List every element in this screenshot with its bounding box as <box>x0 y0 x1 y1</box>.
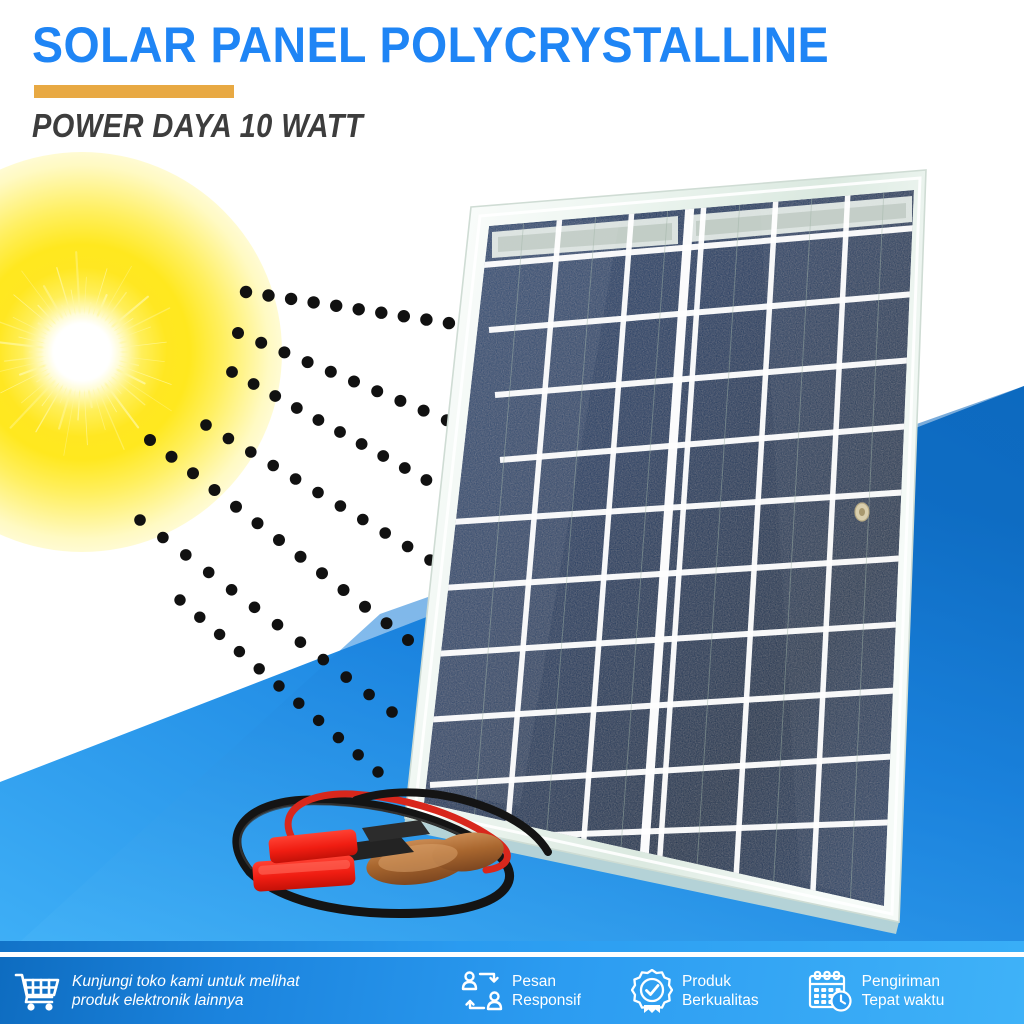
store-promo-text: Kunjungi toko kami untuk melihat produk … <box>72 972 299 1010</box>
store-promo-line1: Kunjungi toko kami untuk melihat <box>72 972 299 991</box>
shopping-cart-icon <box>14 970 60 1012</box>
page-subtitle: POWER DAYA 10 WATT <box>32 108 786 144</box>
feature-responsive-message-text: Pesan Responsif <box>512 972 581 1010</box>
feature-0-line1: Pesan <box>512 972 581 991</box>
feature-ontime-delivery-text: Pengiriman Tepat waktu <box>862 972 945 1010</box>
store-promo[interactable]: Kunjungi toko kami untuk melihat produk … <box>0 970 455 1012</box>
feature-1-line1: Produk <box>682 972 759 991</box>
feature-quality-product-text: Produk Berkualitas <box>682 972 759 1010</box>
calendar-clock-icon <box>807 970 853 1012</box>
feature-responsive-message[interactable]: Pesan Responsif <box>461 971 581 1011</box>
two-persons-exchange-icon <box>461 971 503 1011</box>
feature-ontime-delivery[interactable]: Pengiriman Tepat waktu <box>807 970 945 1012</box>
product-advertisement-canvas: SOLAR PANEL POLYCRYSTALLINE POWER DAYA 1… <box>0 0 1024 1024</box>
feature-2-line1: Pengiriman <box>862 972 945 991</box>
page-title: SOLAR PANEL POLYCRYSTALLINE <box>32 18 829 72</box>
feature-1-line2: Berkualitas <box>682 991 759 1010</box>
feature-0-line2: Responsif <box>512 991 581 1010</box>
feature-quality-product[interactable]: Produk Berkualitas <box>631 969 759 1013</box>
store-promo-line2: produk elektronik lainnya <box>72 991 299 1010</box>
bottom-info-banner: Kunjungi toko kami untuk melihat produk … <box>0 957 1024 1024</box>
feature-2-line2: Tepat waktu <box>862 991 945 1010</box>
heading-block: SOLAR PANEL POLYCRYSTALLINE POWER DAYA 1… <box>32 18 889 144</box>
solar-panel-product-image <box>0 0 1024 1024</box>
feature-list: Pesan Responsif Produk Berkualitas <box>455 969 1024 1013</box>
accent-bar <box>34 85 234 98</box>
quality-ribbon-check-icon <box>631 969 673 1013</box>
banner-top-strip <box>0 941 1024 952</box>
panel-wiring <box>237 792 548 913</box>
